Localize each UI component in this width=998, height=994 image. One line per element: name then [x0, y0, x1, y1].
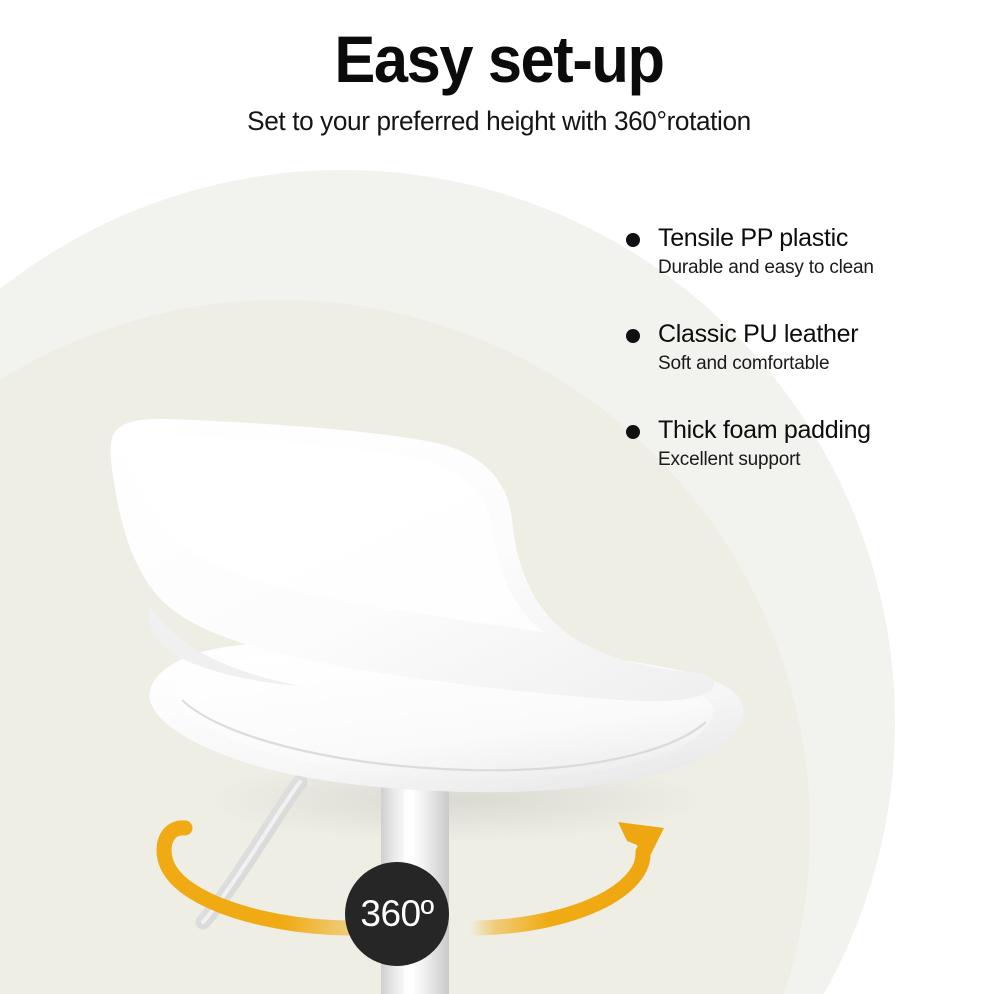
- feature-title: Classic PU leather: [658, 320, 960, 349]
- feature-subtitle: Durable and easy to clean: [658, 253, 960, 280]
- rotation-arc-right: [470, 852, 643, 928]
- feature-item: Thick foam padding Excellent support: [620, 416, 960, 472]
- header: Easy set-up Set to your preferred height…: [0, 0, 998, 138]
- feature-subtitle: Soft and comfortable: [658, 349, 960, 376]
- rotation-arrows: [0, 0, 998, 994]
- feature-title: Tensile PP plastic: [658, 224, 960, 253]
- feature-subtitle: Excellent support: [658, 445, 960, 472]
- badge-label: 360º: [360, 895, 433, 932]
- feature-item: Classic PU leather Soft and comfortable: [620, 320, 960, 376]
- bullet-dot-icon: [626, 329, 640, 343]
- page-subtitle: Set to your preferred height with 360°ro…: [15, 94, 983, 138]
- bullet-dot-icon: [626, 425, 640, 439]
- feature-list: Tensile PP plastic Durable and easy to c…: [620, 224, 960, 472]
- product-feature-graphic: 360º Easy set-up Set to your preferred h…: [0, 0, 998, 994]
- page-title: Easy set-up: [35, 0, 963, 94]
- bullet-dot-icon: [626, 233, 640, 247]
- feature-item: Tensile PP plastic Durable and easy to c…: [620, 224, 960, 280]
- rotation-360-badge: 360º: [345, 862, 449, 966]
- feature-title: Thick foam padding: [658, 416, 960, 445]
